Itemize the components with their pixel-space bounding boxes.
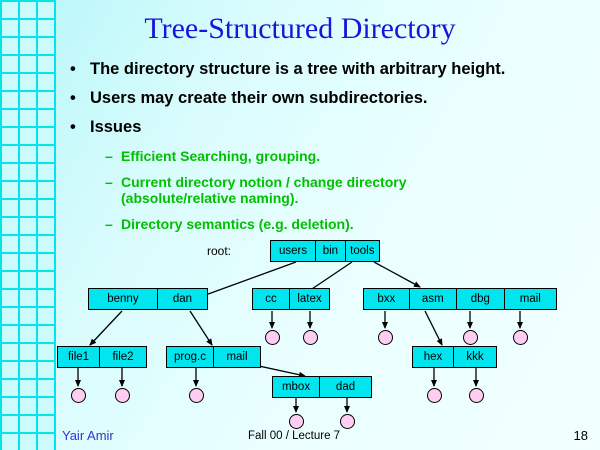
tree-cell-dan-mail[interactable]: mail (214, 347, 260, 367)
tree-cell-asm[interactable]: asm (410, 289, 458, 309)
tree-leaf-file1 (71, 388, 86, 403)
root-label: root: (207, 244, 231, 258)
tree-cell-dad[interactable]: dad (320, 377, 371, 397)
tree-node-benny[interactable]: file1 file2 (57, 346, 147, 368)
tree-node-dan[interactable]: prog.c mail (166, 346, 261, 368)
tree-cell-mbox[interactable]: mbox (273, 377, 320, 397)
tree-leaf-file2 (115, 388, 130, 403)
tree-cell-latex[interactable]: latex (290, 289, 329, 309)
tree-node-dan-mail[interactable]: mbox dad (272, 376, 372, 398)
tree-cell-file1[interactable]: file1 (58, 347, 100, 367)
tree-leaf-progc (189, 388, 204, 403)
footer-lecture: Fall 00 / Lecture 7 (248, 430, 340, 442)
tree-leaf-cc (265, 330, 280, 345)
tree-cell-hex[interactable]: hex (413, 347, 454, 367)
tree-cell-kkk[interactable]: kkk (454, 347, 496, 367)
tree-cell-bxx[interactable]: bxx (364, 289, 410, 309)
tree-cell-users[interactable]: users (271, 241, 316, 261)
tree-leaf-kkk (469, 388, 484, 403)
tree-node-tools[interactable]: bxx asm dbg mail (363, 288, 557, 310)
footer-author: Yair Amir (62, 428, 114, 443)
tree-leaf-mail (513, 330, 528, 345)
tree-cell-mail[interactable]: mail (505, 289, 556, 309)
tree-cell-file2[interactable]: file2 (100, 347, 146, 367)
tree-node-asm[interactable]: hex kkk (412, 346, 497, 368)
tree-leaf-dad (340, 414, 355, 429)
tree-node-root[interactable]: users bin tools (270, 240, 380, 262)
tree-cell-bin[interactable]: bin (316, 241, 345, 261)
footer-page-number: 18 (574, 428, 588, 443)
tree-cell-dan[interactable]: dan (158, 289, 207, 309)
tree-leaf-bxx (378, 330, 393, 345)
tree-cell-tools[interactable]: tools (346, 241, 379, 261)
tree-cell-dbg[interactable]: dbg (457, 289, 505, 309)
slide-canvas: Tree-Structured Directory •The directory… (0, 0, 600, 450)
tree-cell-progc[interactable]: prog.c (167, 347, 214, 367)
tree-node-users[interactable]: benny dan (88, 288, 208, 310)
tree-cell-benny[interactable]: benny (89, 289, 158, 309)
tree-leaf-latex (303, 330, 318, 345)
tree-leaf-hex (427, 388, 442, 403)
tree-leaf-dbg (463, 330, 478, 345)
tree-node-bin[interactable]: cc latex (252, 288, 330, 310)
directory-tree-diagram: root: users bin tools benny dan cc latex… (0, 0, 600, 450)
tree-cell-cc[interactable]: cc (253, 289, 290, 309)
tree-leaf-mbox (289, 414, 304, 429)
